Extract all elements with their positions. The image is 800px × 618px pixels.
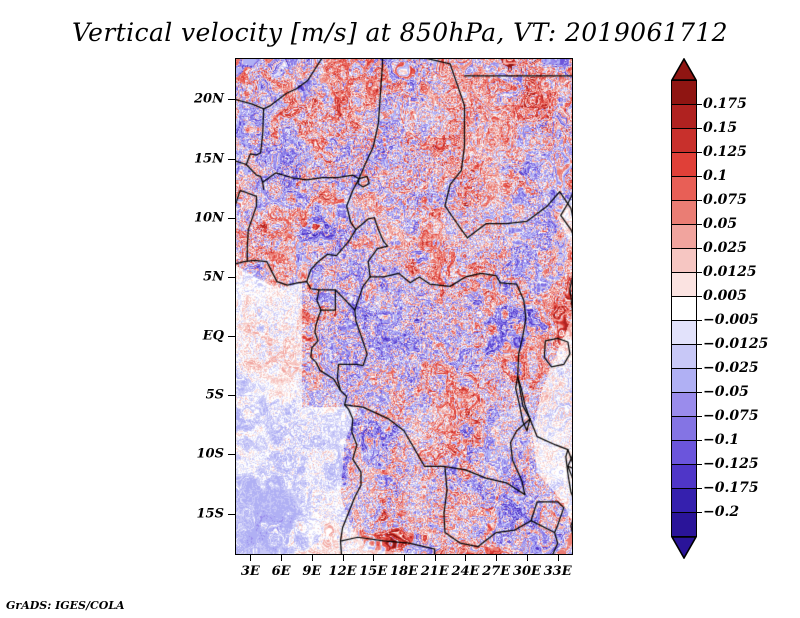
colorbar-segment xyxy=(671,128,697,153)
x-axis-label: 24E xyxy=(451,564,479,579)
colorbar-tick xyxy=(697,464,702,465)
colorbar-segment xyxy=(671,392,697,417)
colorbar-segment xyxy=(671,224,697,249)
x-axis-tick xyxy=(527,555,528,561)
y-axis-label: 10S xyxy=(197,447,224,462)
colorbar-segment xyxy=(671,512,697,537)
colorbar-label: −0.0125 xyxy=(703,336,768,352)
x-axis-tick xyxy=(435,555,436,561)
colorbar-label: −0.05 xyxy=(703,384,749,400)
colorbar-tick xyxy=(697,344,702,345)
colorbar-segment xyxy=(671,200,697,225)
colorbar-label: 0.05 xyxy=(703,216,737,232)
colorbar-segment xyxy=(671,296,697,321)
y-axis-label: 15S xyxy=(197,506,224,521)
y-axis-tick xyxy=(228,336,235,337)
colorbar-label: 0.175 xyxy=(703,96,747,112)
y-axis-tick xyxy=(228,395,235,396)
colorbar-tick xyxy=(697,152,702,153)
x-axis-tick xyxy=(373,555,374,561)
colorbar-segment xyxy=(671,488,697,513)
y-axis-tick xyxy=(228,99,235,100)
x-axis-label: 27E xyxy=(482,564,510,579)
grads-credit: GrADS: IGES/COLA xyxy=(6,599,125,612)
x-axis-label: 21E xyxy=(421,564,449,579)
colorbar-segment xyxy=(671,176,697,201)
colorbar-tick xyxy=(697,488,702,489)
map-plot-area: 20N15N10N5NEQ5S10S15S3E6E9E12E15E18E21E2… xyxy=(235,58,573,555)
y-axis-label: EQ xyxy=(203,329,224,344)
x-axis-label: 18E xyxy=(390,564,418,579)
colorbar-label: −0.175 xyxy=(703,480,759,496)
page-title: Vertical velocity [m/s] at 850hPa, VT: 2… xyxy=(0,18,800,47)
colorbar-tick xyxy=(697,440,702,441)
colorbar-segment xyxy=(671,104,697,129)
x-axis-tick xyxy=(465,555,466,561)
colorbar-segment xyxy=(671,464,697,489)
y-axis-tick xyxy=(228,159,235,160)
colorbar-label: 0.0125 xyxy=(703,264,757,280)
colorbar-segment xyxy=(671,320,697,345)
x-axis-tick xyxy=(496,555,497,561)
colorbar-segment xyxy=(671,272,697,297)
x-axis-tick xyxy=(404,555,405,561)
y-axis-label: 5S xyxy=(206,388,224,403)
colorbar-tick xyxy=(697,296,702,297)
colorbar-tick xyxy=(697,104,702,105)
y-axis-tick xyxy=(228,514,235,515)
x-axis-tick xyxy=(343,555,344,561)
colorbar-extend-low-cap xyxy=(671,536,697,558)
y-axis-label: 10N xyxy=(194,210,224,225)
colorbar-label: −0.075 xyxy=(703,408,759,424)
colorbar-label: 0.025 xyxy=(703,240,747,256)
y-axis-label: 15N xyxy=(194,151,224,166)
colorbar-segment xyxy=(671,80,697,105)
colorbar-tick xyxy=(697,320,702,321)
x-axis-label: 12E xyxy=(329,564,357,579)
grads-plot-page: Vertical velocity [m/s] at 850hPa, VT: 2… xyxy=(0,0,800,618)
colorbar-label: −0.1 xyxy=(703,432,739,448)
x-axis-label: 33E xyxy=(544,564,572,579)
colorbar-label: 0.1 xyxy=(703,168,727,184)
colorbar-label: −0.025 xyxy=(703,360,759,376)
colorbar-label: 0.075 xyxy=(703,192,747,208)
colorbar-label: 0.005 xyxy=(703,288,747,304)
colorbar-tick xyxy=(697,176,702,177)
colorbar-segment xyxy=(671,368,697,393)
y-axis-tick xyxy=(228,277,235,278)
colorbar-label: −0.005 xyxy=(703,312,759,328)
country-borders-overlay xyxy=(235,58,573,555)
y-axis-label: 5N xyxy=(203,269,224,284)
x-axis-tick xyxy=(281,555,282,561)
x-axis-label: 9E xyxy=(302,564,321,579)
x-axis-label: 30E xyxy=(513,564,541,579)
colorbar-segment xyxy=(671,248,697,273)
x-axis-label: 6E xyxy=(272,564,291,579)
x-axis-tick xyxy=(250,555,251,561)
colorbar-tick xyxy=(697,392,702,393)
x-axis-tick xyxy=(312,555,313,561)
colorbar-extend-high-cap xyxy=(671,58,697,80)
colorbar-label: −0.2 xyxy=(703,504,739,520)
colorbar-label: 0.15 xyxy=(703,120,737,136)
y-axis-tick xyxy=(228,218,235,219)
colorbar-tick xyxy=(697,224,702,225)
colorbar-segment xyxy=(671,152,697,177)
colorbar-segment xyxy=(671,344,697,369)
colorbar-tick xyxy=(697,368,702,369)
y-axis-tick xyxy=(228,454,235,455)
x-axis-label: 3E xyxy=(241,564,260,579)
colorbar-tick xyxy=(697,272,702,273)
colorbar-tick xyxy=(697,248,702,249)
colorbar-tick xyxy=(697,512,702,513)
colorbar-label: 0.125 xyxy=(703,144,747,160)
x-axis-label: 15E xyxy=(359,564,387,579)
y-axis-label: 20N xyxy=(194,92,224,107)
x-axis-tick xyxy=(558,555,559,561)
colorbar-tick xyxy=(697,200,702,201)
colorbar-tick xyxy=(697,128,702,129)
colorbar: 0.1750.150.1250.10.0750.050.0250.01250.0… xyxy=(671,58,697,558)
colorbar-tick xyxy=(697,416,702,417)
colorbar-label: −0.125 xyxy=(703,456,759,472)
colorbar-segment xyxy=(671,440,697,465)
colorbar-segment xyxy=(671,416,697,441)
